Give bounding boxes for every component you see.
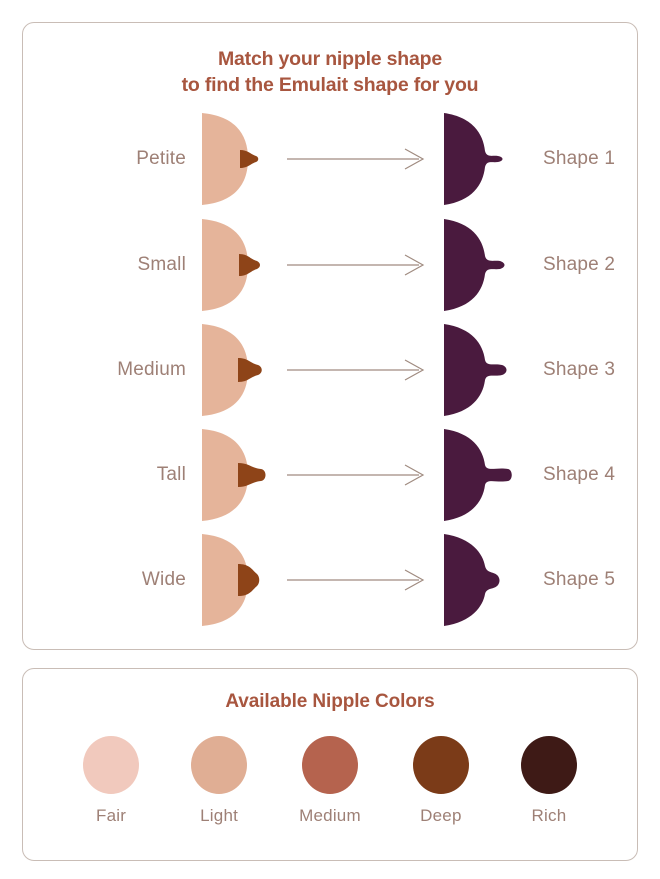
swatch-label: Deep <box>420 806 461 826</box>
swatch-label: Fair <box>96 806 126 826</box>
color-swatch-fair[interactable]: Fair <box>83 736 139 826</box>
bottle-nipple-shape-icon <box>442 320 527 420</box>
swatch-label: Medium <box>299 806 361 826</box>
page-title: Match your nipple shape to find the Emul… <box>45 47 615 99</box>
breast-shape-icon <box>200 425 272 525</box>
color-swatch-rich[interactable]: Rich <box>521 736 577 826</box>
color-swatch-medium[interactable]: Medium <box>299 736 361 826</box>
bottle-nipple-shape-icon <box>442 109 527 209</box>
bottle-nipple-shape-icon <box>442 425 527 525</box>
breast-shape-icon <box>200 320 272 420</box>
emulait-shape-label: Shape 5 <box>527 569 615 591</box>
nipple-shape-label: Medium <box>45 359 200 381</box>
arrow-icon <box>272 569 442 591</box>
emulait-shape-label: Shape 4 <box>527 464 615 486</box>
headline-line-1: Match your nipple shape <box>45 47 615 73</box>
arrow-icon <box>272 359 442 381</box>
shape-matcher-card: Match your nipple shape to find the Emul… <box>22 22 638 650</box>
table-row: Medium <box>45 320 615 424</box>
swatch-dot <box>191 736 247 794</box>
swatch-dot <box>521 736 577 794</box>
table-row: Wide Sh <box>45 530 615 634</box>
emulait-shape-label: Shape 2 <box>527 254 615 276</box>
bottle-nipple-shape-icon <box>442 530 527 630</box>
swatch-dot <box>302 736 358 794</box>
colors-title: Available Nipple Colors <box>43 691 617 713</box>
available-colors-card: Available Nipple Colors Fair Light Mediu… <box>22 668 638 861</box>
arrow-icon <box>272 254 442 276</box>
table-row: Petite <box>45 109 615 213</box>
headline-line-2: to find the Emulait shape for you <box>45 73 615 99</box>
color-swatch-deep[interactable]: Deep <box>413 736 469 826</box>
table-row: Small S <box>45 215 615 319</box>
emulait-shape-label: Shape 1 <box>527 148 615 170</box>
infographic-page: Match your nipple shape to find the Emul… <box>0 0 660 879</box>
emulait-shape-label: Shape 3 <box>527 359 615 381</box>
shape-rows: Petite <box>45 105 615 635</box>
color-swatch-light[interactable]: Light <box>191 736 247 826</box>
color-swatch-list: Fair Light Medium Deep Rich <box>43 713 617 846</box>
breast-shape-icon <box>200 215 272 315</box>
breast-shape-icon <box>200 109 272 209</box>
table-row: Tall Sh <box>45 425 615 529</box>
swatch-label: Rich <box>532 806 567 826</box>
nipple-shape-label: Tall <box>45 464 200 486</box>
swatch-dot <box>83 736 139 794</box>
arrow-icon <box>272 464 442 486</box>
swatch-dot <box>413 736 469 794</box>
breast-shape-icon <box>200 530 272 630</box>
nipple-shape-label: Wide <box>45 569 200 591</box>
bottle-nipple-shape-icon <box>442 215 527 315</box>
nipple-shape-label: Small <box>45 254 200 276</box>
swatch-label: Light <box>200 806 238 826</box>
nipple-shape-label: Petite <box>45 148 200 170</box>
arrow-icon <box>272 148 442 170</box>
